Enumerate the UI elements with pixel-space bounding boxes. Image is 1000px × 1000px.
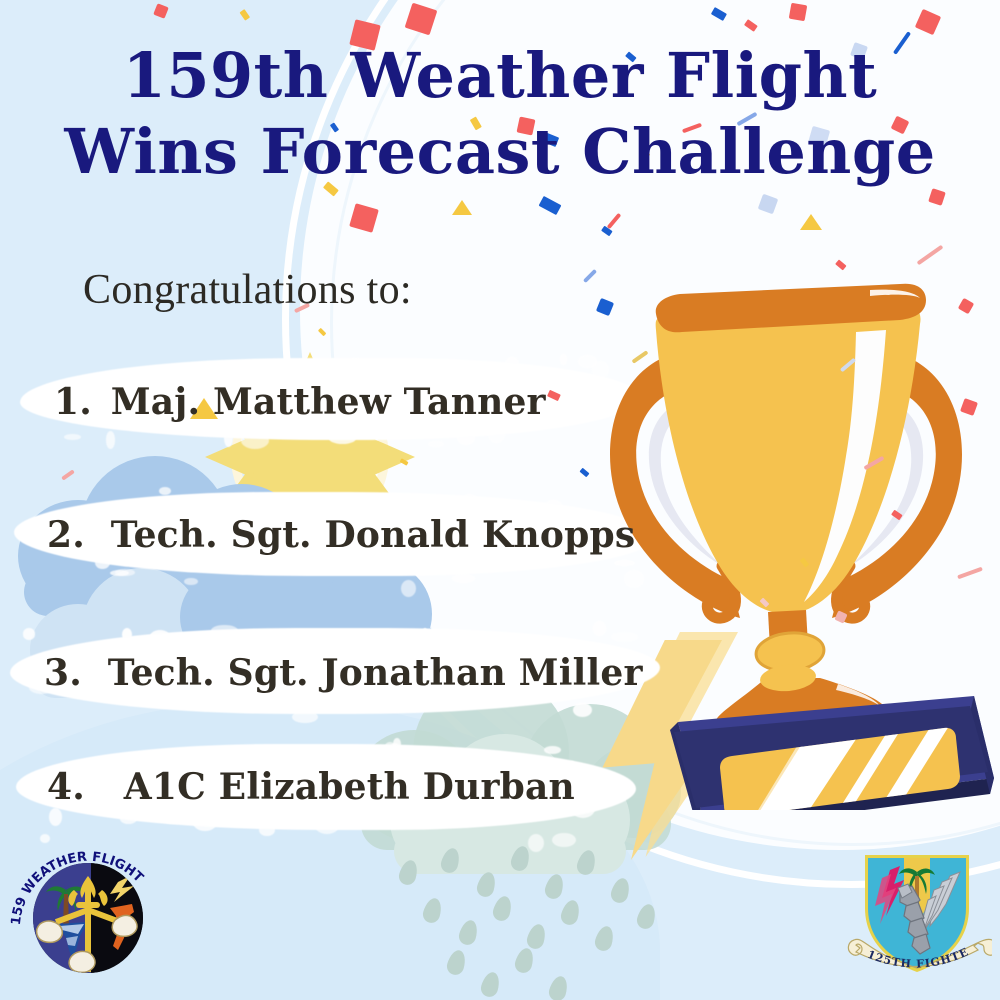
- brush-stroke-speckle: [194, 425, 216, 436]
- brush-stroke-speckle: [528, 834, 544, 852]
- raindrop-icon: [445, 948, 468, 977]
- confetti-piece: [405, 3, 438, 36]
- congratulations-label: Congratulations to:: [83, 266, 412, 314]
- confetti-piece: [915, 9, 941, 35]
- brush-stroke-speckle: [200, 809, 218, 824]
- brush-stroke-speckle: [110, 570, 129, 576]
- winner-list-item: 3. Tech. Sgt. Jonathan Miller: [44, 652, 643, 694]
- raindrop-icon: [513, 946, 536, 975]
- brush-stroke-speckle: [95, 556, 110, 570]
- brush-stroke-speckle: [452, 574, 475, 584]
- brush-stroke-speckle: [64, 434, 81, 440]
- brush-stroke-speckle: [505, 357, 519, 372]
- raindrop-icon: [593, 924, 616, 953]
- winner-name: Maj. Matthew Tanner: [111, 381, 546, 423]
- brush-stroke-speckle: [384, 630, 396, 640]
- brush-stroke-speckle: [428, 441, 443, 448]
- brush-stroke-speckle: [552, 833, 576, 847]
- brush-stroke-speckle: [224, 429, 233, 446]
- winner-rank: 2.: [47, 514, 85, 556]
- confetti-piece: [539, 196, 562, 215]
- confetti-sliver: [61, 469, 75, 480]
- brush-stroke-speckle: [422, 628, 429, 644]
- confetti-piece: [789, 3, 808, 22]
- 159-weather-flight-patch-logo: 159 WEATHER FLIGHT: [6, 846, 170, 978]
- confetti-piece: [349, 203, 379, 233]
- page-title: 159th Weather Flight Wins Forecast Chall…: [0, 38, 1000, 190]
- brush-stroke-speckle: [40, 834, 50, 843]
- brush-stroke-speckle: [159, 487, 171, 495]
- raindrop-icon: [421, 896, 444, 925]
- brush-stroke-speckle: [463, 494, 476, 503]
- brush-stroke-speckle: [328, 361, 343, 378]
- title-line-1: 159th Weather Flight: [123, 39, 878, 112]
- brush-stroke-speckle: [245, 635, 255, 645]
- winner-name: Tech. Sgt. Donald Knopps: [111, 514, 636, 556]
- sun-ray: [205, 436, 253, 478]
- brush-stroke-speckle: [279, 636, 298, 650]
- brush-stroke-speckle: [560, 354, 567, 365]
- winner-list-item: 4. A1C Elizabeth Durban: [47, 766, 575, 808]
- raindrop-icon: [559, 898, 582, 927]
- raindrop-icon: [509, 844, 532, 873]
- confetti-piece: [928, 188, 946, 206]
- raindrop-icon: [397, 858, 420, 887]
- brush-stroke-speckle: [384, 742, 396, 756]
- brush-stroke-speckle: [457, 430, 475, 445]
- brush-stroke-speckle: [315, 817, 339, 834]
- raindrop-icon: [457, 918, 480, 947]
- brush-stroke-speckle: [23, 628, 35, 639]
- raindrop-icon: [491, 894, 514, 923]
- brush-stroke-speckle: [198, 371, 209, 380]
- brush-stroke-speckle: [393, 738, 401, 750]
- confetti-piece: [153, 3, 169, 19]
- brush-stroke-speckle: [544, 746, 561, 754]
- raindrop-icon: [547, 974, 570, 1000]
- gold-trophy-icon: [570, 210, 1000, 810]
- winner-list-item: 1. Maj. Matthew Tanner: [54, 381, 546, 423]
- brush-stroke-speckle: [193, 814, 217, 831]
- confetti-piece: [318, 328, 327, 337]
- brush-stroke-speckle: [241, 432, 269, 449]
- brush-stroke-speckle: [211, 625, 238, 636]
- brush-stroke-speckle: [184, 578, 198, 585]
- sun-ray: [367, 436, 415, 478]
- confetti-piece: [240, 9, 250, 20]
- brush-stroke-speckle: [259, 824, 274, 836]
- raindrop-icon: [575, 848, 598, 877]
- winner-rank: 4.: [47, 766, 85, 808]
- brush-stroke-speckle: [180, 560, 200, 572]
- confetti-piece: [399, 458, 408, 466]
- confetti-piece: [547, 390, 561, 401]
- brush-stroke-speckle: [227, 812, 241, 819]
- raindrop-icon: [635, 902, 658, 931]
- winner-rank: 3.: [44, 652, 82, 694]
- brush-stroke-speckle: [156, 692, 181, 704]
- winner-rank: 1.: [54, 381, 92, 423]
- raindrop-icon: [543, 872, 566, 901]
- title-line-2: Wins Forecast Challenge: [0, 114, 1000, 190]
- poster-canvas: 159th Weather Flight Wins Forecast Chall…: [0, 0, 1000, 1000]
- brush-stroke-speckle: [390, 743, 400, 755]
- confetti-piece: [744, 19, 758, 31]
- brush-stroke-speckle: [120, 813, 136, 824]
- brush-stroke-speckle: [401, 580, 416, 597]
- confetti-piece: [711, 7, 727, 21]
- raindrop-icon: [475, 870, 498, 899]
- brush-stroke-speckle: [161, 815, 189, 824]
- winner-name: Tech. Sgt. Jonathan Miller: [108, 652, 643, 694]
- brush-stroke-speckle: [292, 711, 317, 723]
- confetti-triangle: [452, 200, 472, 215]
- raindrop-icon: [439, 846, 462, 875]
- brush-stroke-speckle: [350, 358, 362, 369]
- 125th-fighter-wing-shield-logo: 125TH FIGHTER WING: [842, 842, 992, 982]
- brush-stroke-speckle: [106, 431, 115, 448]
- winner-list-item: 2. Tech. Sgt. Donald Knopps: [47, 514, 635, 556]
- brush-stroke-speckle: [115, 569, 135, 577]
- raindrop-icon: [479, 970, 502, 999]
- brush-stroke-speckle: [122, 628, 132, 641]
- brush-stroke-speckle: [329, 433, 356, 444]
- brush-stroke-speckle: [488, 424, 505, 442]
- brush-stroke-speckle: [379, 756, 400, 763]
- raindrop-icon: [609, 876, 632, 905]
- winner-name: A1C Elizabeth Durban: [124, 766, 575, 808]
- brush-stroke-speckle: [150, 630, 170, 643]
- brush-stroke-speckle: [49, 808, 62, 826]
- raindrop-icon: [525, 922, 548, 951]
